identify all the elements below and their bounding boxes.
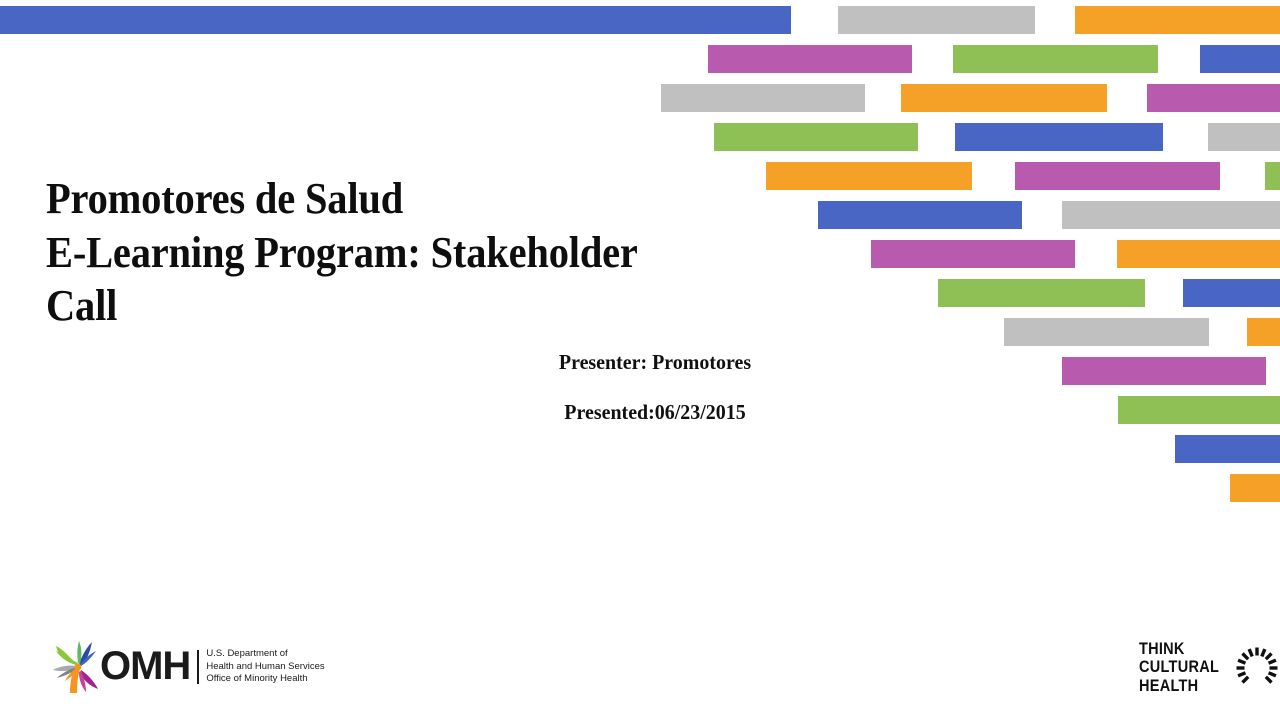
tch-wordmark: THINK CULTURAL HEALTH	[1139, 640, 1219, 695]
decorative-bar-purple	[1147, 84, 1280, 112]
decorative-bar-orange	[1247, 318, 1280, 346]
decorative-bar-blue	[818, 201, 1022, 229]
decorative-bar-green	[1118, 396, 1280, 424]
tch-line-2: CULTURAL	[1139, 658, 1219, 676]
presented-date: Presented:06/23/2015	[323, 402, 988, 423]
presentation-slide: Promotores de Salud E-Learning Program: …	[0, 0, 1280, 720]
decorative-bar-orange	[901, 84, 1107, 112]
omh-logo: OMH U.S. Department of Health and Human …	[48, 636, 325, 698]
omh-dept-line-2: Health and Human Services	[206, 661, 324, 674]
decorative-bar-gray	[1208, 123, 1280, 151]
decorative-bar-blue	[955, 123, 1163, 151]
omh-dept-line-1: U.S. Department of	[206, 648, 324, 661]
tch-line-3: HEALTH	[1139, 677, 1219, 695]
title-line-2: E-Learning Program: Stakeholder	[46, 228, 638, 277]
decorative-bar-purple	[708, 45, 912, 73]
presenter-name: Presenter: Promotores	[323, 352, 988, 373]
decorative-bar-orange	[1117, 240, 1280, 268]
think-cultural-health-logo: THINK CULTURAL HEALTH	[1139, 640, 1280, 695]
tch-line-1: THINK	[1139, 640, 1219, 658]
decorative-bar-green	[953, 45, 1158, 73]
title-line-3: Call	[46, 281, 117, 330]
decorative-bar-purple	[871, 240, 1075, 268]
decorative-bar-blue	[1175, 435, 1280, 463]
page-title: Promotores de Salud E-Learning Program: …	[46, 172, 745, 333]
presenter-block: Presenter: Promotores Presented:06/23/20…	[305, 352, 1005, 423]
decorative-bar-purple	[1015, 162, 1220, 190]
decorative-bar-gray	[661, 84, 865, 112]
omh-department-text: U.S. Department of Health and Human Serv…	[206, 648, 324, 686]
omh-pinwheel-mark-icon	[48, 637, 106, 697]
omh-wordmark: OMH	[100, 646, 190, 688]
omh-divider	[197, 650, 199, 684]
decorative-bar-green	[1265, 162, 1280, 190]
decorative-bar-orange	[1230, 474, 1280, 502]
title-line-1: Promotores de Salud	[46, 174, 403, 223]
decorative-bar-gray	[838, 6, 1035, 34]
decorative-bar-orange	[1075, 6, 1280, 34]
decorative-bar-gray	[1004, 318, 1209, 346]
decorative-bar-blue	[0, 6, 791, 34]
title-block: Promotores de Salud E-Learning Program: …	[46, 172, 806, 333]
decorative-bar-blue	[1183, 279, 1280, 307]
decorative-bar-blue	[1200, 45, 1280, 73]
decorative-bar-purple	[1062, 357, 1266, 385]
decorative-bar-green	[938, 279, 1145, 307]
decorative-bar-gray	[1062, 201, 1280, 229]
decorative-bar-green	[714, 123, 918, 151]
omh-dept-line-3: Office of Minority Health	[206, 673, 324, 686]
tch-dashed-circle-mark-icon	[1231, 642, 1280, 694]
